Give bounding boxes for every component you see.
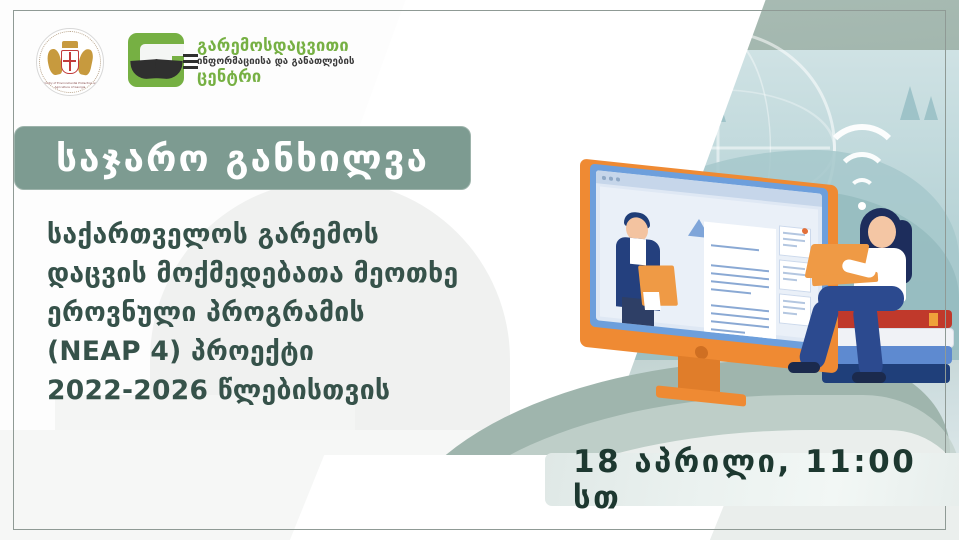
eraser-icon — [547, 343, 587, 367]
presenter-folder-paper — [643, 292, 661, 310]
eiec-logo-mark-icon — [128, 33, 188, 91]
eiec-logo-text: გარემოსდაცვითი ინფორმაციისა და განათლები… — [197, 37, 355, 87]
headline-line-3: ეროვნული პროგრამის — [47, 294, 467, 333]
headline-line-1: საქართველოს გარემოს — [47, 216, 467, 255]
pine-tree-icon — [924, 96, 938, 120]
book-white — [820, 328, 954, 348]
pine-tree-icon — [900, 86, 920, 120]
headline-block: საქართველოს გარემოს დაცვის მოქმედებათა მ… — [47, 216, 467, 411]
eiec-logo-line-2: ინფორმაციისა და განათლების — [197, 57, 355, 68]
date-time-text: 18 აპრილი, 11:00 სთ — [545, 444, 959, 516]
window-dot — [602, 176, 606, 180]
headline-line-4: (NEAP 4) პროექტი — [47, 333, 467, 372]
document-page — [704, 221, 776, 343]
banner-title-text: საჯარო განხილვა — [56, 137, 429, 180]
presenter-shirt — [630, 238, 646, 266]
sidebar-thumbnail — [779, 293, 811, 326]
woman-shoe — [852, 372, 886, 383]
window-dot — [609, 176, 613, 180]
headline-line-2: დაცვის მოქმედებათა მეოთხე — [47, 255, 467, 294]
book-navy — [822, 364, 950, 383]
browser-content — [600, 187, 818, 340]
online-public-hearing-illustration — [560, 150, 959, 450]
date-time-band: 18 აპრილი, 11:00 სთ — [545, 453, 959, 506]
ministry-emblem-icon: Ministry of Environmental Protection and… — [36, 28, 104, 96]
eiec-logo-line-3: ცენტრი — [197, 68, 355, 86]
banner-public-hearing: საჯარო განხილვა — [14, 126, 471, 190]
headline-line-5: 2022-2026 წლებისთვის — [47, 372, 467, 411]
eiec-logo: გარემოსდაცვითი ინფორმაციისა და განათლები… — [128, 33, 355, 91]
woman-head — [868, 216, 896, 248]
woman-shoe — [788, 362, 820, 373]
logo-row: Ministry of Environmental Protection and… — [36, 28, 355, 96]
public-hearing-poster: Ministry of Environmental Protection and… — [0, 0, 959, 540]
record-indicator-icon — [802, 228, 808, 235]
eiec-logo-line-1: გარემოსდაცვითი — [197, 37, 355, 55]
window-dot — [616, 177, 620, 181]
browser-window — [596, 170, 822, 344]
ministry-emblem-caption: Ministry of Environmental Protection and… — [37, 82, 103, 89]
